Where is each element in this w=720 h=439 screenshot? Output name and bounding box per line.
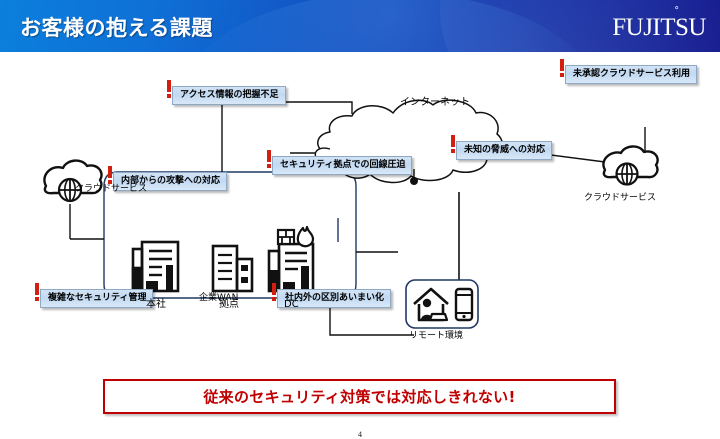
callout-marker-icon <box>451 135 455 147</box>
slide-header: お客様の抱える課題 ˚ FUJITSU <box>0 0 720 52</box>
callout-marker-dot-icon <box>560 73 564 77</box>
label-cloud-service-left: クラウドサービス <box>75 185 147 194</box>
callout-access-info[interactable]: アクセス情報の把握不足 <box>172 86 286 105</box>
callout-marker-icon <box>272 283 276 295</box>
fujitsu-logo: ˚ FUJITSU <box>612 14 706 42</box>
callout-unauthorized-cloud-label: 未承認クラウドサービス利用 <box>573 69 690 79</box>
label-cloud-service-right: クラウドサービス <box>584 194 656 203</box>
callout-security-hub-congestion-label: セキュリティ拠点での回線圧迫 <box>280 160 405 170</box>
conclusion-banner-text: 従来のセキュリティ対策では対応しきれない! <box>203 386 515 407</box>
callout-marker-dot-icon <box>35 297 39 301</box>
label-internet: インターネット <box>400 98 470 108</box>
callout-security-hub-congestion[interactable]: セキュリティ拠点での回線圧迫 <box>272 156 412 175</box>
diagram-connectors <box>0 52 720 405</box>
page-number: 4 <box>0 430 720 439</box>
callout-complex-security-mgmt-label: 複雑なセキュリティ管理 <box>48 293 146 303</box>
callout-marker-icon <box>35 283 39 295</box>
callout-marker-dot-icon <box>167 94 171 98</box>
callout-marker-dot-icon <box>267 164 271 168</box>
label-headquarters: 本社 <box>146 300 166 310</box>
header-swoosh-decoration-2 <box>180 0 600 52</box>
callout-access-info-label: アクセス情報の把握不足 <box>180 90 279 100</box>
callout-marker-icon <box>267 150 271 162</box>
callout-marker-icon <box>167 80 171 92</box>
label-enterprise-wan: 企業WAN <box>199 294 238 303</box>
fujitsu-logo-text: FUJITSU <box>612 14 706 41</box>
conclusion-banner: 従来のセキュリティ対策では対応しきれない! <box>103 379 616 414</box>
callout-marker-dot-icon <box>272 297 276 301</box>
callout-marker-icon <box>108 166 112 178</box>
callout-unknown-threat[interactable]: 未知の脅威への対応 <box>456 141 552 160</box>
smartphone-icon <box>456 289 472 320</box>
callout-blurred-perimeter-label: 社内外の区別あいまい化 <box>285 293 384 303</box>
callout-marker-icon <box>560 59 564 71</box>
cloud-globe-icon-right <box>603 146 657 184</box>
page-title: お客様の抱える課題 <box>20 12 213 42</box>
label-remote-environment: リモート環境 <box>409 332 463 341</box>
callout-marker-dot-icon <box>451 149 455 153</box>
callout-unauthorized-cloud[interactable]: 未承認クラウドサービス利用 <box>565 65 697 84</box>
slide-canvas: アクセス情報の把握不足 未承認クラウドサービス利用 内部からの攻撃への対応 セキ… <box>0 52 720 405</box>
callout-unknown-threat-label: 未知の脅威への対応 <box>464 145 545 155</box>
building-headquarters-icon <box>133 242 178 291</box>
building-branch-icon <box>213 246 252 291</box>
cloud-globe-icon-left <box>44 161 101 201</box>
label-datacenter: DC <box>284 300 299 310</box>
callout-complex-security-mgmt[interactable]: 複雑なセキュリティ管理 <box>40 289 153 308</box>
